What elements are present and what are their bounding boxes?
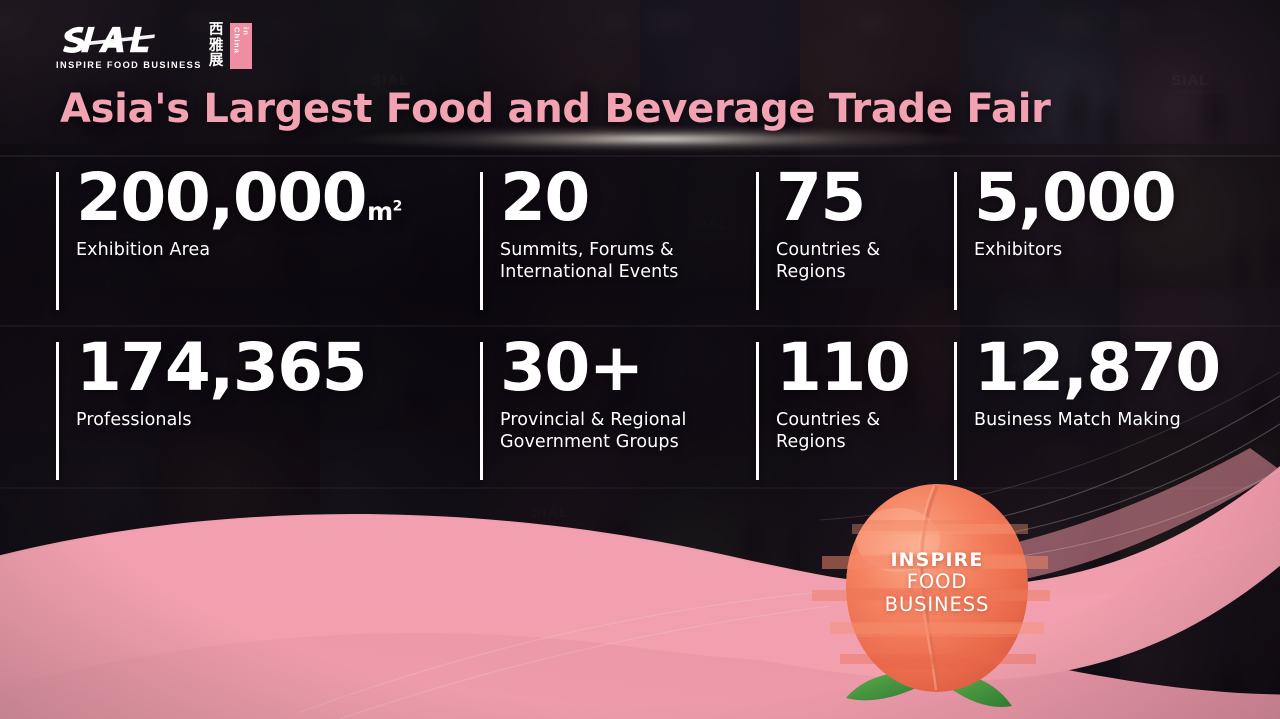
promo-slide: SIALINSPIRE FOOD BUSINESSSIALINSPIRE FOO… (0, 0, 1280, 719)
stat-label-line: Professionals (76, 409, 331, 432)
stat-label-line: Regions (776, 261, 954, 284)
sial-logo-tagline: INSPIRE FOOD BUSINESS (56, 60, 202, 70)
stat-label-line: Regions (776, 431, 954, 454)
stat-label: Professionals (76, 409, 331, 432)
stat-label-line: Summits, Forums & (500, 239, 735, 262)
stat-label: Exhibition Area (76, 239, 331, 262)
stat-value: 20 (500, 168, 756, 229)
stat-divider-bar (480, 342, 483, 480)
page-title: Asia's Largest Food and Beverage Trade F… (60, 86, 1051, 132)
stat-divider-bar (480, 172, 483, 310)
stat-label: Countries &Regions (776, 409, 954, 454)
logo-chinese-char-1: 西 (209, 23, 224, 39)
stat-item: 12,870Business Match Making (954, 336, 1240, 506)
in-china-badge: in China (230, 23, 252, 69)
stat-divider-bar (954, 342, 957, 480)
stat-value: 5,000 (974, 168, 1240, 229)
stat-value: 174,365 (76, 338, 480, 399)
stat-label-line: Government Groups (500, 431, 735, 454)
stat-item: 5,000Exhibitors (954, 166, 1240, 336)
stat-label: Business Match Making (974, 409, 1240, 432)
stat-unit: m2 (367, 197, 402, 226)
stat-item: 200,000m2Exhibition Area (56, 166, 480, 336)
stat-label: Countries &Regions (776, 239, 954, 284)
sial-logo-mark: INSPIRE FOOD BUSINESS (56, 22, 202, 70)
stat-divider-bar (954, 172, 957, 310)
stat-label-line: Exhibition Area (76, 239, 331, 262)
stat-value: 75 (776, 168, 954, 229)
stat-label-line: Countries & (776, 409, 954, 432)
stat-item: 174,365Professionals (56, 336, 480, 506)
stat-divider-bar (756, 172, 759, 310)
stat-divider-bar (56, 172, 59, 310)
stat-label-line: Business Match Making (974, 409, 1240, 432)
stat-label-line: Exhibitors (974, 239, 1229, 262)
statistics-grid: 200,000m2Exhibition Area20Summits, Forum… (56, 166, 1240, 506)
stat-item: 110Countries &Regions (756, 336, 954, 506)
sial-logo-chinese: 西 雅 展 (209, 22, 224, 70)
stat-label: Exhibitors (974, 239, 1229, 262)
stat-value: 200,000m2 (76, 168, 480, 229)
stat-item: 75Countries &Regions (756, 166, 954, 336)
stat-divider-bar (56, 342, 59, 480)
stat-item: 30+Provincial & RegionalGovernment Group… (480, 336, 756, 506)
stat-item: 20Summits, Forums &International Events (480, 166, 756, 336)
stat-value: 110 (776, 338, 954, 399)
stat-value: 30+ (500, 338, 756, 399)
stat-label: Summits, Forums &International Events (500, 239, 735, 284)
stat-value: 12,870 (974, 338, 1240, 399)
sial-wordmark-icon (56, 22, 202, 56)
stat-label: Provincial & RegionalGovernment Groups (500, 409, 735, 454)
stat-label-line: Countries & (776, 239, 954, 262)
sial-logo[interactable]: INSPIRE FOOD BUSINESS 西 雅 展 in China (56, 22, 252, 70)
stat-label-line: International Events (500, 261, 735, 284)
stat-label-line: Provincial & Regional (500, 409, 735, 432)
logo-chinese-char-3: 展 (209, 54, 224, 70)
stat-divider-bar (756, 342, 759, 480)
stat-unit-exponent: 2 (393, 199, 402, 215)
logo-chinese-char-2: 雅 (209, 39, 224, 55)
